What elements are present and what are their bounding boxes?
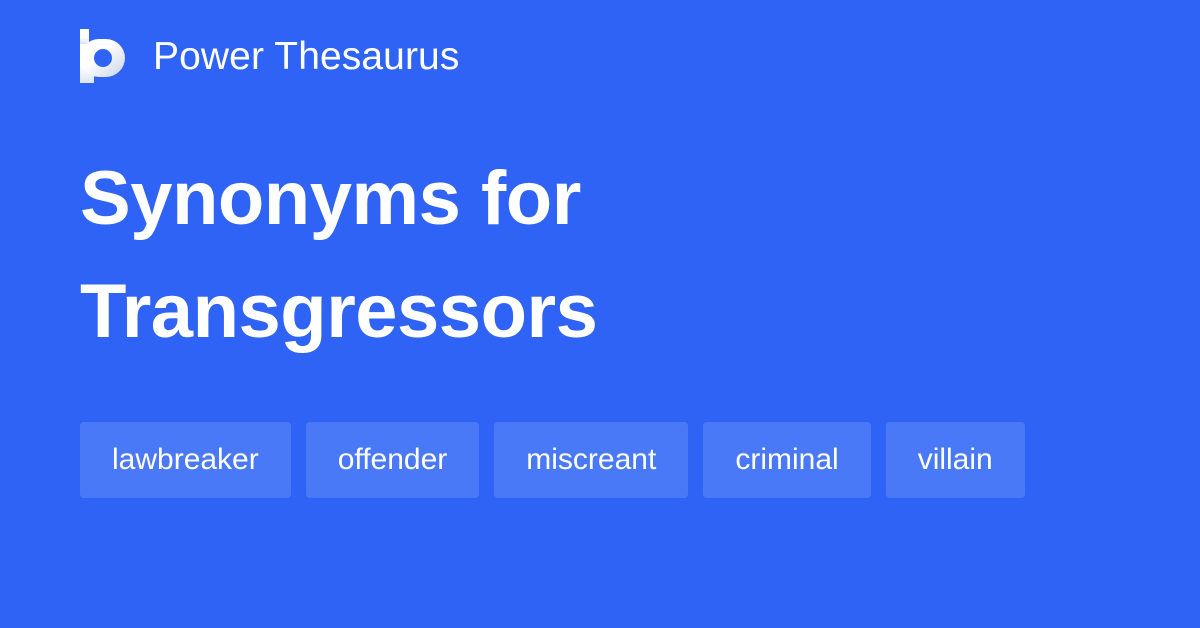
synonym-chip[interactable]: criminal: [703, 422, 870, 498]
synonym-chip[interactable]: miscreant: [494, 422, 688, 498]
power-thesaurus-b-logo-icon: [80, 29, 126, 83]
page-title: Synonyms for Transgressors: [80, 142, 1120, 368]
brand-logo[interactable]: Power Thesaurus: [80, 26, 459, 86]
brand-name: Power Thesaurus: [153, 37, 459, 76]
synonym-chip-list: lawbreakeroffendermiscreantcriminalvilla…: [80, 422, 1080, 498]
synonym-chip[interactable]: offender: [306, 422, 480, 498]
synonym-chip[interactable]: lawbreaker: [80, 422, 291, 498]
page-title-line-1: Synonyms for: [80, 142, 1120, 255]
synonym-share-card: Power Thesaurus Synonyms for Transgresso…: [0, 0, 1200, 628]
page-title-line-2: Transgressors: [80, 255, 1120, 368]
synonym-chip[interactable]: villain: [886, 422, 1025, 498]
